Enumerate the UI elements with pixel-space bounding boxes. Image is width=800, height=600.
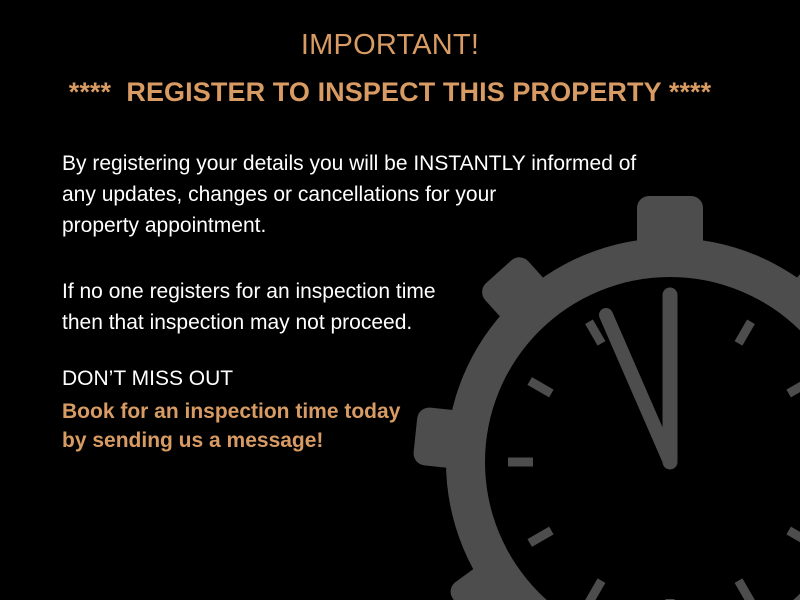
- cta-send-message: by sending us a message!: [62, 427, 323, 455]
- body-paragraph-no-registration: If no one registers for an inspection ti…: [62, 276, 436, 338]
- promo-slide: IMPORTANT! **** REGISTER TO INSPECT THIS…: [0, 0, 800, 600]
- body-paragraph-registering: By registering your details you will be …: [62, 148, 636, 241]
- body-paragraph-dont-miss-out: DON’T MISS OUT: [62, 363, 233, 394]
- text-content: IMPORTANT! **** REGISTER TO INSPECT THIS…: [0, 0, 800, 600]
- page-subtitle: **** REGISTER TO INSPECT THIS PROPERTY *…: [0, 78, 780, 108]
- page-title: IMPORTANT!: [0, 30, 780, 62]
- cta-book-inspection: Book for an inspection time today: [62, 398, 400, 426]
